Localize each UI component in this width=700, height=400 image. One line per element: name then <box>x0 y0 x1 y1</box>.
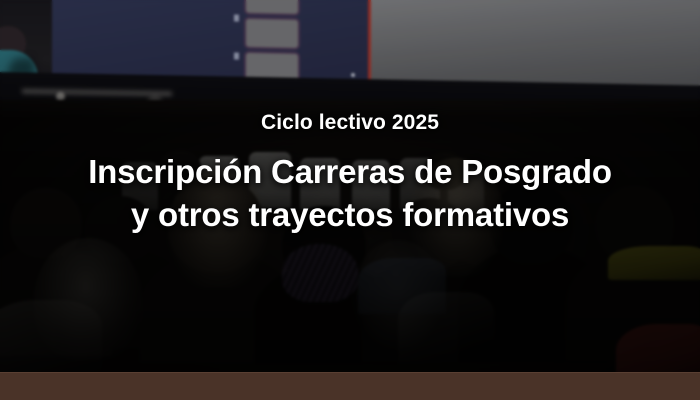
stage-area <box>0 0 700 100</box>
slide-bullet-marker <box>234 15 239 22</box>
event-banner: Ciclo lectivo 2025 Inscripción Carreras … <box>0 0 700 400</box>
slide-dot-marker <box>351 73 355 77</box>
slide-content-box <box>244 17 300 50</box>
desk-object <box>56 92 65 100</box>
slide-content-box <box>244 0 300 16</box>
audience-clothing-pale <box>0 300 102 376</box>
bottom-bar-divider <box>0 372 700 373</box>
audience-knit-hat <box>282 244 358 302</box>
desk-object <box>148 96 162 100</box>
auditorium-photo <box>0 0 700 400</box>
audience-clothing-yellow <box>608 246 700 280</box>
audience-hair-highlight <box>168 168 268 288</box>
audience-clothing-pale <box>398 292 494 362</box>
bottom-bar <box>0 372 700 400</box>
chair-back <box>300 158 340 210</box>
slide-bullet-marker <box>234 53 239 60</box>
chair-back <box>352 160 390 210</box>
